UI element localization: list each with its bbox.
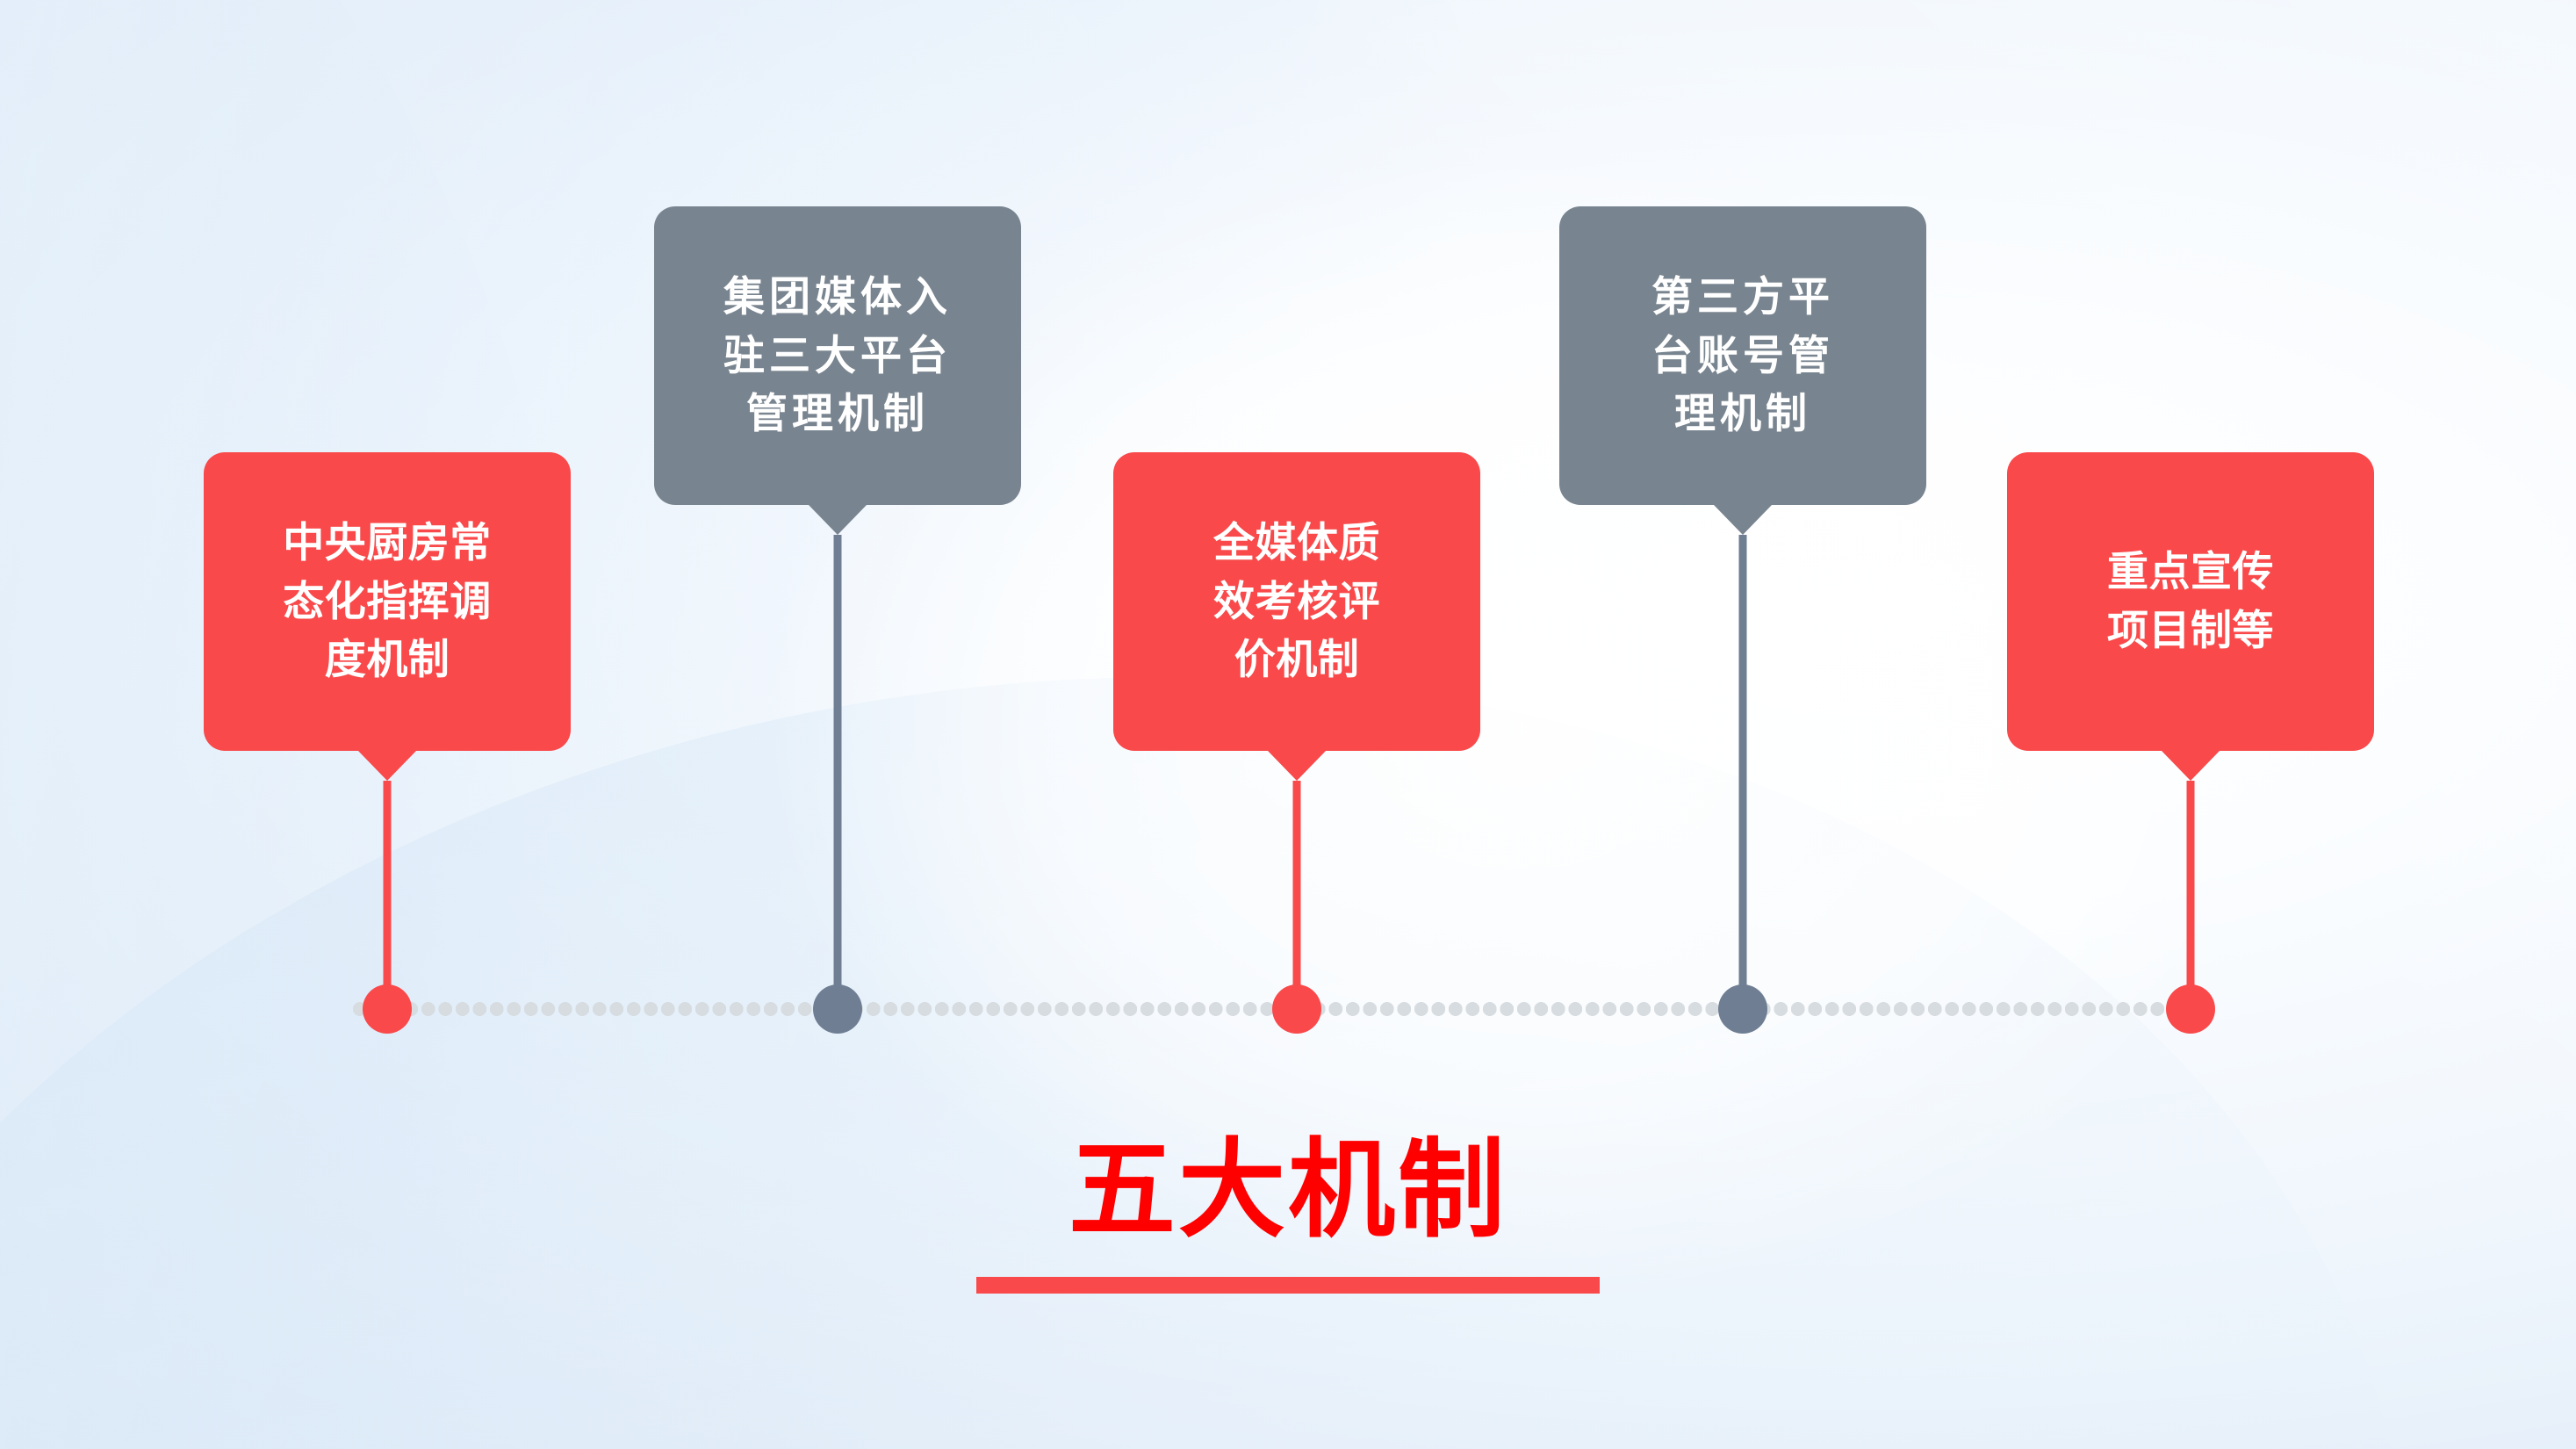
node-dot-5[interactable] <box>2166 984 2215 1034</box>
node-card-2-label: 集团媒体入 驻三大平台 管理机制 <box>723 268 952 443</box>
diagram-title-wrap: 五大机制 <box>0 1133 2576 1249</box>
node-card-1[interactable]: 中央厨房常 态化指挥调 度机制 <box>204 452 571 751</box>
node-card-2-tail <box>809 505 867 535</box>
node-dot-1[interactable] <box>363 984 412 1034</box>
node-card-4-label: 第三方平 台账号管 理机制 <box>1651 268 1834 443</box>
node-card-5[interactable]: 重点宣传 项目制等 <box>2007 452 2374 751</box>
node-card-1-tail <box>358 751 416 781</box>
node-card-2[interactable]: 集团媒体入 驻三大平台 管理机制 <box>654 206 1021 505</box>
infographic-canvas: 中央厨房常 态化指挥调 度机制 集团媒体入 驻三大平台 管理机制 全媒体质 效考… <box>0 0 2576 1449</box>
node-card-5-tail <box>2162 751 2220 781</box>
node-card-3-label: 全媒体质 效考核评 价机制 <box>1213 514 1380 689</box>
diagram-title: 五大机制 <box>1069 1133 1507 1249</box>
diagram-title-underline <box>976 1277 1600 1294</box>
node-stem-1 <box>384 781 392 986</box>
node-card-3-tail <box>1268 751 1326 781</box>
node-dot-4[interactable] <box>1718 984 1767 1034</box>
node-dot-2[interactable] <box>813 984 862 1034</box>
node-card-5-label: 重点宣传 项目制等 <box>2107 543 2274 660</box>
node-card-1-label: 中央厨房常 态化指挥调 度机制 <box>283 514 492 689</box>
node-stem-2 <box>834 535 842 986</box>
node-stem-4 <box>1739 535 1747 986</box>
node-stem-5 <box>2187 781 2195 986</box>
node-card-4[interactable]: 第三方平 台账号管 理机制 <box>1559 206 1926 505</box>
node-stem-3 <box>1293 781 1301 986</box>
node-card-4-tail <box>1714 505 1772 535</box>
node-card-3[interactable]: 全媒体质 效考核评 价机制 <box>1113 452 1480 751</box>
node-dot-3[interactable] <box>1272 984 1321 1034</box>
